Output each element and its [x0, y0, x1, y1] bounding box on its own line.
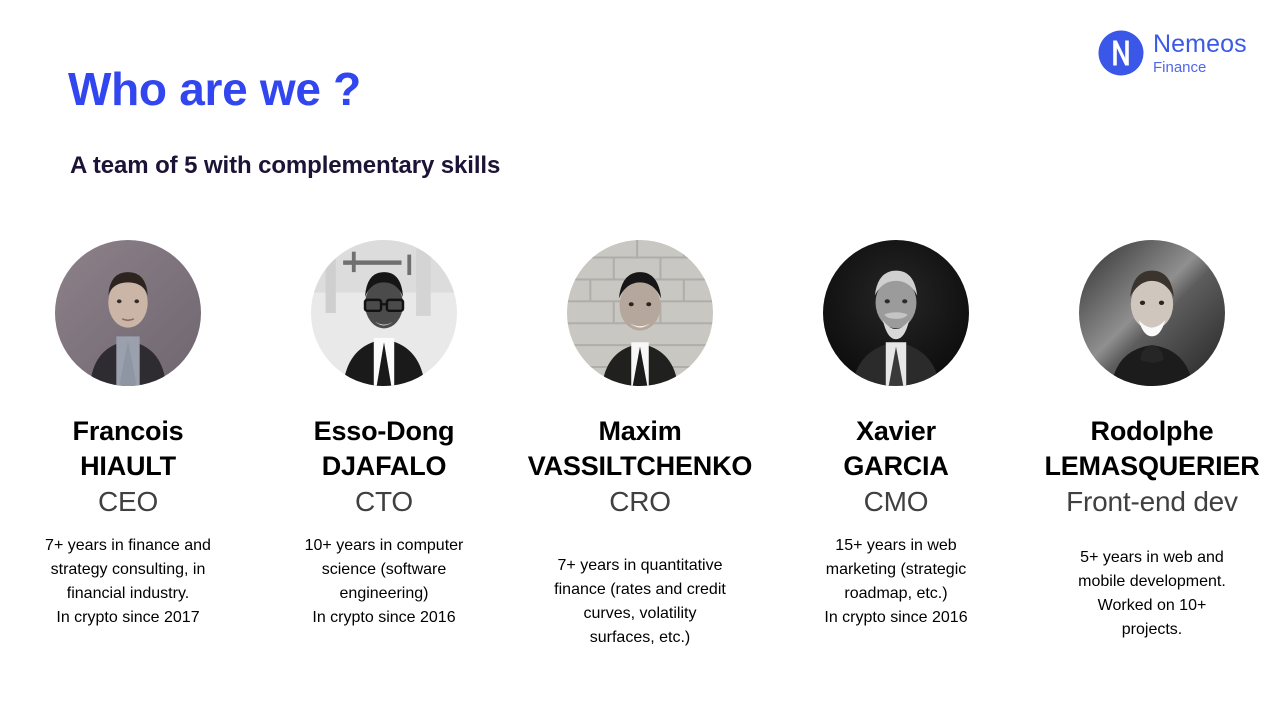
- page-title: Who are we ?: [68, 62, 361, 116]
- team-member-card: Francois HIAULT CEO 7+ years in finance …: [0, 240, 256, 630]
- team-member-identity: Francois HIAULT CEO: [0, 414, 256, 520]
- team-member-role: CEO: [0, 484, 256, 520]
- team-member-identity: Esso-Dong DJAFALO CTO: [256, 414, 512, 520]
- team-member-role: CMO: [768, 484, 1024, 520]
- team-member-card: Maxim VASSILTCHENKO CRO 7+ years in quan…: [512, 240, 768, 650]
- team-member-first-name: Francois: [0, 414, 256, 449]
- brand-logo-text: Nemeos Finance: [1153, 32, 1247, 75]
- brand-logo: Nemeos Finance: [1098, 30, 1247, 76]
- team-member-last-name: DJAFALO: [256, 449, 512, 484]
- brand-name: Nemeos: [1153, 32, 1247, 57]
- team-member-first-name: Rodolphe: [1024, 414, 1280, 449]
- page-subtitle: A team of 5 with complementary skills: [70, 152, 500, 180]
- team-member-last-name: LEMASQUERIER: [1024, 449, 1280, 484]
- brand-tagline: Finance: [1153, 60, 1247, 75]
- team-member-first-name: Esso-Dong: [256, 414, 512, 449]
- portrait-maxim-vassiltchenko: [567, 240, 713, 386]
- team-member-identity: Xavier GARCIA CMO: [768, 414, 1024, 520]
- team-member-role: CTO: [256, 484, 512, 520]
- team-member-bio: 15+ years in web marketing (strategic ro…: [791, 534, 1001, 630]
- team-member-last-name: GARCIA: [768, 449, 1024, 484]
- team-member-bio: 10+ years in computer science (software …: [279, 534, 489, 630]
- team-member-identity: Rodolphe LEMASQUERIER Front-end dev: [1024, 414, 1280, 520]
- team-member-identity: Maxim VASSILTCHENKO CRO: [512, 414, 768, 520]
- team-member-role: Front-end dev: [1024, 484, 1280, 520]
- portrait-francois-hiault: [55, 240, 201, 386]
- team-member-bio: 7+ years in finance and strategy consult…: [23, 534, 233, 630]
- team-member-first-name: Maxim: [512, 414, 768, 449]
- slide-who-are-we: Nemeos Finance Who are we ? A team of 5 …: [0, 0, 1280, 720]
- team-list: Francois HIAULT CEO 7+ years in finance …: [0, 240, 1280, 650]
- portrait-rodolphe-lemasquerier: [1079, 240, 1225, 386]
- team-member-card: Esso-Dong DJAFALO CTO 10+ years in compu…: [256, 240, 512, 630]
- portrait-esso-dong-djafalo: [311, 240, 457, 386]
- portrait-xavier-garcia: [823, 240, 969, 386]
- team-member-last-name: HIAULT: [0, 449, 256, 484]
- team-member-bio: 7+ years in quantitative finance (rates …: [535, 554, 745, 650]
- team-member-first-name: Xavier: [768, 414, 1024, 449]
- team-member-card: Xavier GARCIA CMO 15+ years in web marke…: [768, 240, 1024, 630]
- nemeos-n-monogram-icon: [1098, 30, 1144, 76]
- team-member-last-name: VASSILTCHENKO: [512, 449, 768, 484]
- team-member-role: CRO: [512, 484, 768, 520]
- team-member-card: Rodolphe LEMASQUERIER Front-end dev 5+ y…: [1024, 240, 1280, 642]
- team-member-bio: 5+ years in web and mobile development. …: [1047, 546, 1257, 642]
